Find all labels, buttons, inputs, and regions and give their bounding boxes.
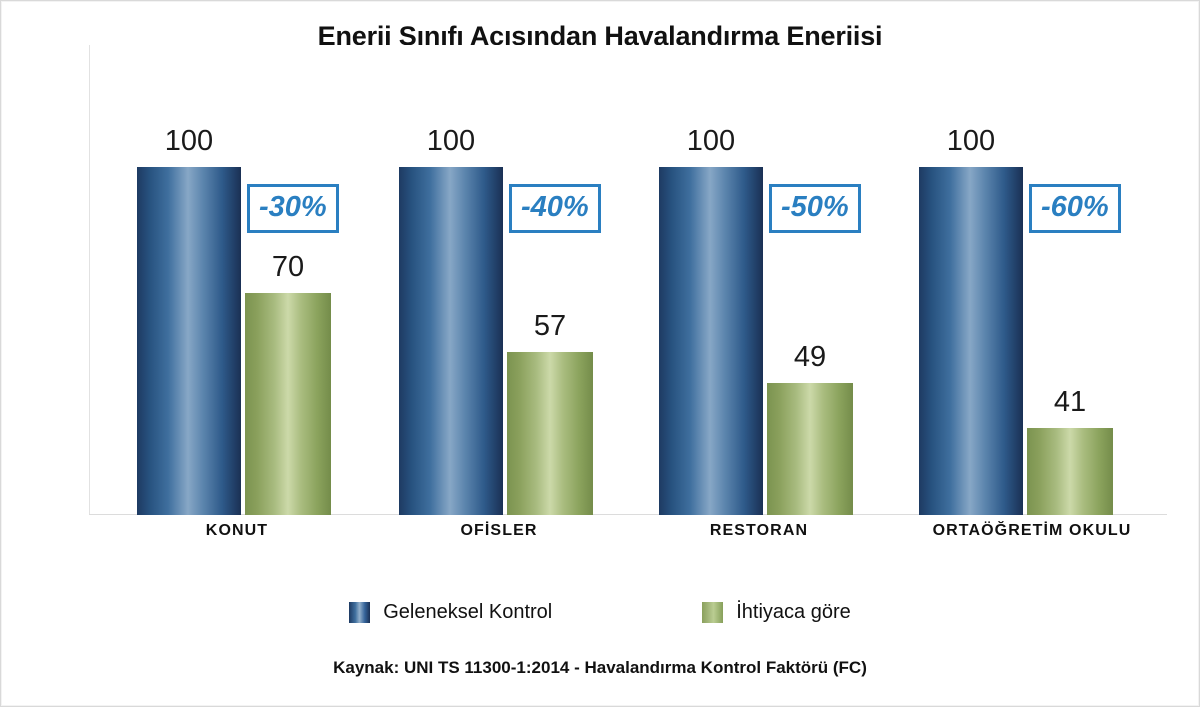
chart-legend: Geleneksel Kontrol İhtiyaca göre [1, 601, 1199, 624]
reduction-badge-ofisler: -40% [509, 184, 601, 233]
legend-label: Geleneksel Kontrol [383, 601, 552, 624]
chart-canvas: Enerji Sınıfı Açısından Havalandırma Ene… [0, 0, 1200, 707]
category-label-ortaogretim-okulu: ORTAÖĞRETİM OKULU [882, 522, 1182, 540]
bar-group-ortaogretim-okulu: 100 41 -60% [903, 45, 1143, 515]
category-label-restoran: RESTORAN [609, 522, 909, 540]
reduction-badge-ortaogretim-okulu: -60% [1029, 184, 1121, 233]
bar-value-geleneksel-kontrol: 100 [381, 125, 521, 158]
bar-value-geleneksel-kontrol: 100 [641, 125, 781, 158]
bar-value-geleneksel-kontrol: 100 [901, 125, 1041, 158]
bar-geleneksel-kontrol[interactable] [137, 167, 241, 515]
bar-value-ihtiyaca-gore: 49 [740, 341, 880, 374]
bar-geleneksel-kontrol[interactable] [919, 167, 1023, 515]
bar-value-ihtiyaca-gore: 41 [1000, 386, 1140, 419]
legend-label: İhtiyaca göre [736, 601, 851, 624]
source-note: Kaynak: UNI TS 11300-1:2014 - Havalandır… [1, 658, 1199, 678]
legend-item-ihtiyaca-gore[interactable]: İhtiyaca göre [702, 601, 851, 624]
bar-ihtiyaca-gore[interactable] [245, 293, 331, 515]
bar-value-geleneksel-kontrol: 100 [119, 125, 259, 158]
green-square-swatch-icon [702, 602, 723, 623]
bar-group-restoran: 100 49 -50% [643, 45, 883, 515]
category-label-konut: KONUT [87, 522, 387, 540]
category-label-ofisler: OFİSLER [349, 522, 649, 540]
blue-cylinder-swatch-icon [349, 602, 370, 623]
legend-item-geleneksel-kontrol[interactable]: Geleneksel Kontrol [349, 601, 552, 624]
bar-value-ihtiyaca-gore: 70 [218, 251, 358, 284]
reduction-badge-restoran: -50% [769, 184, 861, 233]
bar-group-konut: 100 70 -30% [121, 45, 361, 515]
bar-group-ofisler: 100 57 -40% [383, 45, 623, 515]
reduction-badge-konut: -30% [247, 184, 339, 233]
bar-ihtiyaca-gore[interactable] [507, 352, 593, 515]
bar-ihtiyaca-gore[interactable] [767, 383, 853, 515]
bar-value-ihtiyaca-gore: 57 [480, 310, 620, 343]
bar-ihtiyaca-gore[interactable] [1027, 428, 1113, 515]
